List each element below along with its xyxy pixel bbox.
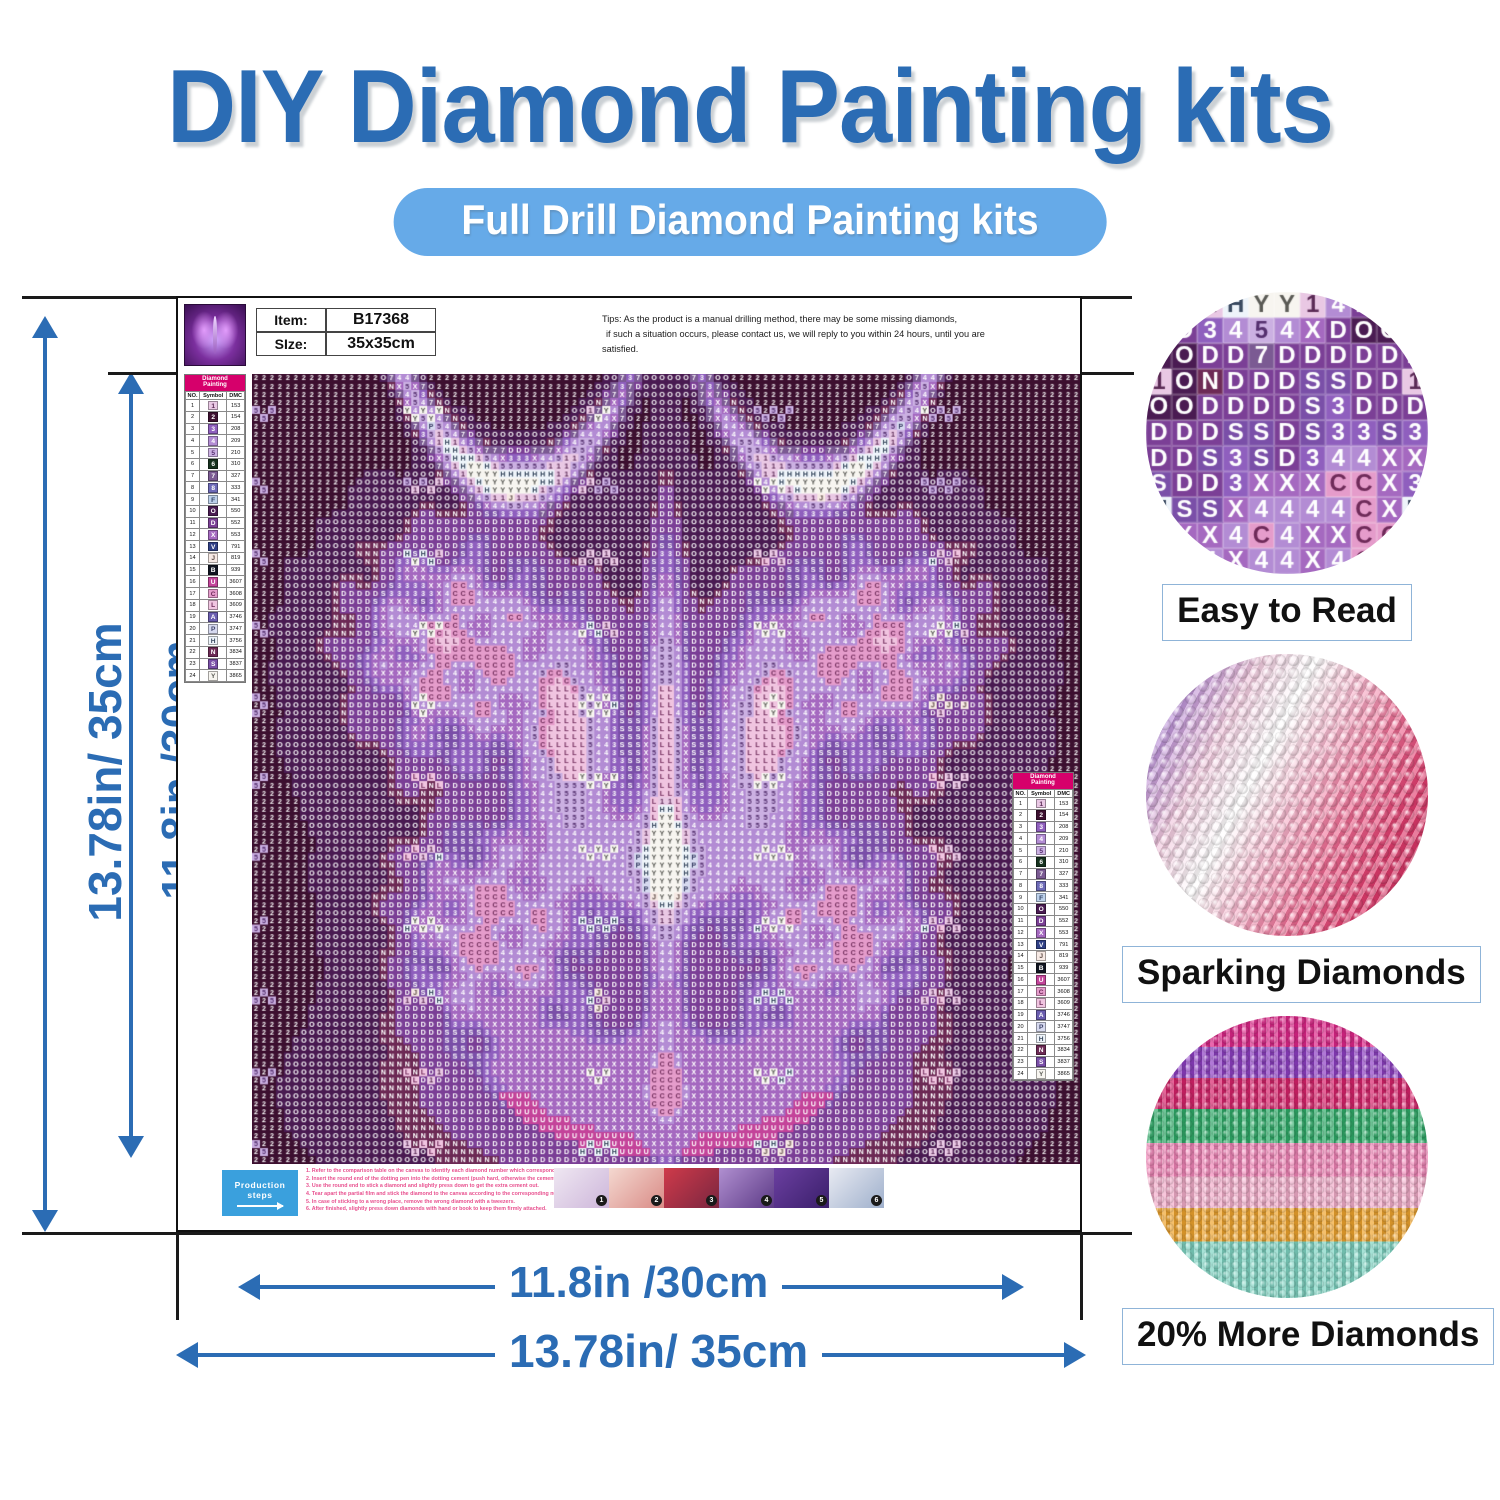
legend-dmc: 791 <box>227 541 245 553</box>
legend-symbol-cell: Y <box>200 670 227 682</box>
legend-symbol-cell: X <box>1028 927 1055 939</box>
subtitle-pill: Full Drill Diamond Painting kits <box>394 188 1107 256</box>
legend-dmc: 154 <box>227 411 245 423</box>
canvas-sheet: Item: B17368 SIze: 35x35cm Tips: As the … <box>176 296 1082 1232</box>
legend-symbol-cell: 1 <box>200 400 227 412</box>
legend-row: 88333 <box>1014 880 1073 892</box>
legend-symbol: X <box>208 530 218 540</box>
legend-symbol-cell: 2 <box>1028 809 1055 821</box>
legend-dmc: 208 <box>1055 821 1073 833</box>
legend-no: 2 <box>1014 809 1028 821</box>
legend-no: 12 <box>1014 927 1028 939</box>
legend-row: 18L3609 <box>186 599 245 611</box>
legend-row: 22N3834 <box>1014 1044 1073 1056</box>
legend-dmc: 939 <box>1055 962 1073 974</box>
legend-symbol: Y <box>1036 1069 1046 1079</box>
legend-dmc: 552 <box>1055 915 1073 927</box>
inner-width-label: 11.8in /30cm <box>495 1258 782 1308</box>
legend-no: 19 <box>186 611 200 623</box>
legend-symbol-cell: U <box>200 576 227 588</box>
legend-no: 21 <box>186 635 200 647</box>
legend-symbol-cell: F <box>1028 892 1055 904</box>
legend-symbol: J <box>208 553 218 563</box>
legend-row: 33208 <box>186 423 245 435</box>
legend-no: 6 <box>186 458 200 470</box>
legend-row: 24Y3865 <box>186 670 245 682</box>
legend-no: 24 <box>186 670 200 682</box>
legend-dmc: 3609 <box>227 599 245 611</box>
legend-row: 44209 <box>1014 833 1073 845</box>
legend-dmc: 341 <box>227 494 245 506</box>
legend-symbol: H <box>208 636 218 646</box>
glossy-diamond-rows-circle <box>1146 654 1428 936</box>
legend-row: 11D552 <box>1014 915 1073 927</box>
legend-symbol: 4 <box>208 436 218 446</box>
legend-dmc: 553 <box>1055 927 1073 939</box>
legend-symbol: J <box>1036 951 1046 961</box>
legend-row: 66310 <box>1014 856 1073 868</box>
legend-dmc: 209 <box>1055 833 1073 845</box>
production-steps-badge: Production steps <box>222 1170 298 1216</box>
legend-dmc: 3837 <box>1055 1056 1073 1068</box>
legend-col-no: NO. <box>1014 789 1028 797</box>
legend-symbol-cell: C <box>1028 986 1055 998</box>
legend-row: 22154 <box>186 411 245 423</box>
legend-symbol-cell: J <box>1028 950 1055 962</box>
legend-no: 22 <box>1014 1044 1028 1056</box>
legend-dmc: 3747 <box>1055 1021 1073 1033</box>
legend-col-dmc: DMC <box>227 391 245 399</box>
legend-dmc: 939 <box>227 564 245 576</box>
legend-dmc: 209 <box>227 435 245 447</box>
legend-symbol-cell: 4 <box>200 435 227 447</box>
legend-header-row: NO.SymbolDMC <box>186 391 245 399</box>
legend-row: 21H3756 <box>186 635 245 647</box>
legend-dmc: 310 <box>227 458 245 470</box>
legend-symbol: V <box>1036 940 1046 950</box>
legend-dmc: 3834 <box>1055 1044 1073 1056</box>
legend-row: 20P3747 <box>1014 1021 1073 1033</box>
legend-no: 13 <box>1014 939 1028 951</box>
legend-no: 9 <box>186 494 200 506</box>
legend-row: 11D552 <box>186 517 245 529</box>
legend-symbol: 7 <box>1036 869 1046 879</box>
legend-dmc: 3608 <box>227 588 245 600</box>
legend-no: 8 <box>1014 880 1028 892</box>
legend-symbol: U <box>1036 975 1046 985</box>
legend-row: 77327 <box>186 470 245 482</box>
legend-symbol-cell: V <box>1028 939 1055 951</box>
outer-height-line <box>43 338 47 1210</box>
legend-symbol-cell: B <box>200 564 227 576</box>
legend-row: 66310 <box>186 458 245 470</box>
production-strip: Production steps 1. Refer to the compari… <box>178 1164 1080 1230</box>
legend-no: 13 <box>186 541 200 553</box>
legend-rows-right: NO.SymbolDMC1115322154332084420955210663… <box>1013 789 1073 1080</box>
legend-row: 16U3607 <box>186 576 245 588</box>
legend-rows: NO.SymbolDMC1115322154332084420955210663… <box>185 391 245 682</box>
step-photo: 1 <box>554 1168 609 1208</box>
legend-symbol-cell: 3 <box>200 423 227 435</box>
step-photo-badge: 4 <box>761 1195 772 1206</box>
legend-row: 19A3746 <box>186 611 245 623</box>
feature-sparking-diamonds: Sparking Diamonds <box>1122 654 1452 1003</box>
tick-left-vert <box>176 1232 179 1320</box>
legend-dmc: 550 <box>1055 903 1073 915</box>
legend-row: 15B939 <box>186 564 245 576</box>
legend-dmc: 3609 <box>1055 997 1073 1009</box>
symbol-grid-artwork <box>252 374 1080 1164</box>
legend-no: 20 <box>1014 1021 1028 1033</box>
legend-symbol: 1 <box>1036 799 1046 809</box>
legend-row: 33208 <box>1014 821 1073 833</box>
legend-dmc: 154 <box>1055 809 1073 821</box>
legend-symbol: L <box>208 600 218 610</box>
size-label: SIze: <box>256 332 326 356</box>
legend-no: 17 <box>186 588 200 600</box>
legend-symbol-cell: S <box>200 658 227 670</box>
legend-no: 17 <box>1014 986 1028 998</box>
legend-row: 9F341 <box>1014 892 1073 904</box>
legend-row: 18L3609 <box>1014 997 1073 1009</box>
legend-symbol-cell: 3 <box>1028 821 1055 833</box>
legend-no: 23 <box>1014 1056 1028 1068</box>
legend-no: 12 <box>186 529 200 541</box>
legend-no: 16 <box>1014 974 1028 986</box>
legend-row: 14J819 <box>186 552 245 564</box>
legend-row: 15B939 <box>1014 962 1073 974</box>
legend-col-symbol: Symbol <box>1028 789 1055 797</box>
legend-no: 1 <box>186 400 200 412</box>
legend-row: 20P3747 <box>186 623 245 635</box>
legend-no: 20 <box>186 623 200 635</box>
subtitle-text: Full Drill Diamond Painting kits <box>461 197 1038 243</box>
legend-row: 23S3837 <box>1014 1056 1073 1068</box>
legend-row: 10O550 <box>1014 903 1073 915</box>
step-photo-badge: 3 <box>706 1195 717 1206</box>
legend-dmc: 153 <box>1055 798 1073 810</box>
legend-title-right-line2: Painting <box>1013 780 1073 786</box>
legend-no: 5 <box>186 447 200 459</box>
outer-height-arrow-bottom <box>32 1210 58 1232</box>
legend-symbol: Y <box>208 671 218 681</box>
legend-symbol-cell: Y <box>1028 1068 1055 1080</box>
legend-dmc: 3607 <box>1055 974 1073 986</box>
step-photo-badge: 2 <box>651 1195 662 1206</box>
legend-no: 4 <box>1014 833 1028 845</box>
legend-dmc: 310 <box>1055 856 1073 868</box>
legend-header-row: NO.SymbolDMC <box>1014 789 1073 797</box>
legend-symbol: 8 <box>1036 881 1046 891</box>
legend-dmc: 3865 <box>227 670 245 682</box>
outer-width-label: 13.78in/ 35cm <box>495 1324 822 1378</box>
legend-dmc: 3837 <box>227 658 245 670</box>
legend-row: 11153 <box>1014 798 1073 810</box>
legend-symbol-cell: 7 <box>200 470 227 482</box>
feature-easy-to-read: Easy to Read <box>1122 292 1452 641</box>
legend-row: 12X553 <box>186 529 245 541</box>
legend-symbol: 3 <box>1036 822 1046 832</box>
legend-symbol: H <box>1036 1034 1046 1044</box>
arrow-icon <box>237 1205 283 1207</box>
legend-symbol: S <box>1036 1057 1046 1067</box>
production-label-line2: steps <box>247 1190 272 1200</box>
legend-symbol-cell: 6 <box>1028 856 1055 868</box>
legend-symbol: U <box>208 577 218 587</box>
legend-no: 1 <box>1014 798 1028 810</box>
sheet-header: Item: B17368 SIze: 35x35cm Tips: As the … <box>178 298 1080 370</box>
inner-width-arrow-right <box>1002 1274 1024 1300</box>
legend-symbol-cell: N <box>200 646 227 658</box>
legend-table-right: Diamond Painting NO.SymbolDMC11153221543… <box>1012 772 1074 1081</box>
legend-row: 77327 <box>1014 868 1073 880</box>
legend-row: 9F341 <box>186 494 245 506</box>
step-photo: 4 <box>719 1168 774 1208</box>
legend-symbol: S <box>208 659 218 669</box>
step-photo-badge: 1 <box>596 1195 607 1206</box>
legend-symbol-cell: D <box>200 517 227 529</box>
inner-height-line <box>129 394 133 1136</box>
legend-symbol: C <box>1036 987 1046 997</box>
legend-symbol: B <box>208 565 218 575</box>
legend-symbol-cell: C <box>200 588 227 600</box>
legend-symbol-cell: 4 <box>1028 833 1055 845</box>
legend-col-dmc: DMC <box>1055 789 1073 797</box>
legend-title-right: Diamond Painting <box>1013 773 1073 789</box>
legend-symbol-cell: 8 <box>200 482 227 494</box>
legend-no: 6 <box>1014 856 1028 868</box>
step-photo: 5 <box>774 1168 829 1208</box>
legend-no: 10 <box>186 505 200 517</box>
legend-dmc: 210 <box>227 447 245 459</box>
legend-title-line2: Painting <box>185 382 245 388</box>
legend-col-symbol: Symbol <box>200 391 227 399</box>
legend-symbol: O <box>208 506 218 516</box>
legend-row: 10O550 <box>186 505 245 517</box>
legend-dmc: 819 <box>1055 950 1073 962</box>
step-photo-strip: 123456 <box>554 1168 884 1208</box>
legend-no: 15 <box>1014 962 1028 974</box>
legend-col-no: NO. <box>186 391 200 399</box>
legend-symbol-cell: X <box>200 529 227 541</box>
legend-symbol-cell: F <box>200 494 227 506</box>
legend-symbol: N <box>208 647 218 657</box>
legend-symbol-cell: 1 <box>1028 798 1055 810</box>
tips-line-2: if such a situation occurs, please conta… <box>602 327 1007 342</box>
inner-height-arrow-top <box>118 372 144 394</box>
legend-symbol-cell: 8 <box>1028 880 1055 892</box>
legend-symbol-cell: 2 <box>200 411 227 423</box>
legend-dmc: 3756 <box>1055 1033 1073 1045</box>
legend-no: 19 <box>1014 1009 1028 1021</box>
legend-symbol: C <box>208 589 218 599</box>
legend-symbol-cell: O <box>200 505 227 517</box>
legend-symbol-cell: S <box>1028 1056 1055 1068</box>
feature-more-diamonds: 20% More Diamonds <box>1122 1016 1452 1365</box>
legend-no: 5 <box>1014 845 1028 857</box>
legend-dmc: 210 <box>1055 845 1073 857</box>
legend-dmc: 3608 <box>1055 986 1073 998</box>
page-title: DIY Diamond Painting kits <box>60 55 1440 159</box>
outer-height-label: 13.78in/ 35cm <box>78 612 132 932</box>
legend-dmc: 333 <box>227 482 245 494</box>
legend-dmc: 327 <box>227 470 245 482</box>
legend-symbol-cell: 7 <box>1028 868 1055 880</box>
legend-symbol: A <box>208 612 218 622</box>
legend-no: 7 <box>186 470 200 482</box>
legend-row: 24Y3865 <box>1014 1068 1073 1080</box>
legend-symbol-cell: P <box>1028 1021 1055 1033</box>
legend-no: 8 <box>186 482 200 494</box>
legend-symbol: 8 <box>208 483 218 493</box>
legend-symbol-cell: A <box>200 611 227 623</box>
purple-butterfly-thumbnail <box>184 304 246 366</box>
legend-symbol: 6 <box>208 459 218 469</box>
legend-row: 23S3837 <box>186 658 245 670</box>
legend-table-left: Diamond Painting NO.SymbolDMC11153221543… <box>184 374 246 683</box>
legend-symbol-cell: V <box>200 541 227 553</box>
legend-no: 11 <box>1014 915 1028 927</box>
legend-symbol-cell: A <box>1028 1009 1055 1021</box>
legend-dmc: 3746 <box>1055 1009 1073 1021</box>
legend-symbol: L <box>1036 998 1046 1008</box>
feature-label-2: Sparking Diamonds <box>1122 946 1481 1003</box>
step-photo-badge: 6 <box>871 1195 882 1206</box>
production-label-line1: Production <box>235 1180 286 1190</box>
legend-symbol-cell: H <box>200 635 227 647</box>
legend-symbol: 6 <box>1036 857 1046 867</box>
legend-symbol: 1 <box>208 401 218 411</box>
legend-symbol: F <box>1036 893 1046 903</box>
legend-symbol: D <box>208 518 218 528</box>
legend-dmc: 791 <box>1055 939 1073 951</box>
legend-dmc: 553 <box>227 529 245 541</box>
legend-no: 24 <box>1014 1068 1028 1080</box>
tick-right-vert <box>1080 1232 1083 1320</box>
legend-no: 2 <box>186 411 200 423</box>
step-photo-badge: 5 <box>816 1195 827 1206</box>
feature-label-1: Easy to Read <box>1162 584 1412 641</box>
legend-row: 22N3834 <box>186 646 245 658</box>
legend-row: 13V791 <box>1014 939 1073 951</box>
legend-no: 7 <box>1014 868 1028 880</box>
legend-no: 3 <box>1014 821 1028 833</box>
legend-symbol: N <box>1036 1045 1046 1055</box>
legend-symbol-cell: H <box>1028 1033 1055 1045</box>
legend-no: 23 <box>186 658 200 670</box>
legend-symbol-cell: B <box>1028 962 1055 974</box>
legend-no: 4 <box>186 435 200 447</box>
legend-row: 16U3607 <box>1014 974 1073 986</box>
outer-width-arrow-left <box>176 1342 198 1368</box>
legend-symbol-cell: 6 <box>200 458 227 470</box>
legend-symbol-cell: J <box>200 552 227 564</box>
legend-dmc: 552 <box>227 517 245 529</box>
legend-row: 55210 <box>186 447 245 459</box>
legend-row: 17C3608 <box>1014 986 1073 998</box>
legend-symbol: 2 <box>1036 810 1046 820</box>
step-photo: 3 <box>664 1168 719 1208</box>
legend-symbol-cell: N <box>1028 1044 1055 1056</box>
legend-row: 11153 <box>186 400 245 412</box>
outer-width-arrow-right <box>1064 1342 1086 1368</box>
legend-symbol: 5 <box>1036 846 1046 856</box>
legend-dmc: 327 <box>1055 868 1073 880</box>
step-photo: 2 <box>609 1168 664 1208</box>
feature-label-3: 20% More Diamonds <box>1122 1308 1494 1365</box>
legend-no: 14 <box>1014 950 1028 962</box>
legend-no: 3 <box>186 423 200 435</box>
legend-no: 15 <box>186 564 200 576</box>
legend-dmc: 3756 <box>227 635 245 647</box>
legend-symbol: F <box>208 495 218 505</box>
legend-no: 14 <box>186 552 200 564</box>
inner-height-arrow-bottom <box>118 1136 144 1158</box>
legend-symbol-cell: L <box>200 599 227 611</box>
legend-symbol: 3 <box>208 424 218 434</box>
legend-symbol: X <box>1036 928 1046 938</box>
legend-row: 12X553 <box>1014 927 1073 939</box>
legend-title: Diamond Painting <box>185 375 245 391</box>
size-value: 35x35cm <box>326 332 436 356</box>
legend-symbol: 2 <box>208 412 218 422</box>
inner-width-arrow-left <box>238 1274 260 1300</box>
legend-symbol: B <box>1036 963 1046 973</box>
legend-row: 13V791 <box>186 541 245 553</box>
legend-dmc: 3834 <box>227 646 245 658</box>
legend-row: 88333 <box>186 482 245 494</box>
colored-diamond-piles-circle <box>1146 1016 1428 1298</box>
legend-no: 9 <box>1014 892 1028 904</box>
legend-symbol: O <box>1036 904 1046 914</box>
legend-symbol-cell: U <box>1028 974 1055 986</box>
legend-symbol: D <box>1036 916 1046 926</box>
legend-dmc: 153 <box>227 400 245 412</box>
item-label: Item: <box>256 308 326 332</box>
legend-symbol-cell: D <box>1028 915 1055 927</box>
legend-no: 10 <box>1014 903 1028 915</box>
legend-dmc: 333 <box>1055 880 1073 892</box>
legend-row: 21H3756 <box>1014 1033 1073 1045</box>
tips-line-1: Tips: As the product is a manual drillin… <box>602 312 1007 327</box>
zoomed-symbol-grid-circle <box>1146 292 1428 574</box>
tips-text: Tips: As the product is a manual drillin… <box>602 312 1007 357</box>
legend-symbol: A <box>1036 1010 1046 1020</box>
legend-no: 18 <box>1014 997 1028 1009</box>
legend-row: 19A3746 <box>1014 1009 1073 1021</box>
legend-dmc: 341 <box>1055 892 1073 904</box>
legend-symbol: 7 <box>208 471 218 481</box>
legend-symbol: P <box>1036 1022 1046 1032</box>
legend-dmc: 3865 <box>1055 1068 1073 1080</box>
tick-bottom <box>22 1232 1132 1235</box>
legend-symbol-cell: 5 <box>200 447 227 459</box>
legend-symbol-cell: P <box>200 623 227 635</box>
legend-row: 44209 <box>186 435 245 447</box>
legend-row: 17C3608 <box>186 588 245 600</box>
legend-symbol-cell: 5 <box>1028 845 1055 857</box>
legend-no: 18 <box>186 599 200 611</box>
legend-row: 55210 <box>1014 845 1073 857</box>
step-photo: 6 <box>829 1168 884 1208</box>
legend-dmc: 3747 <box>227 623 245 635</box>
legend-dmc: 208 <box>227 423 245 435</box>
legend-symbol-cell: O <box>1028 903 1055 915</box>
outer-height-arrow-top <box>32 316 58 338</box>
legend-no: 11 <box>186 517 200 529</box>
legend-row: 22154 <box>1014 809 1073 821</box>
legend-symbol-cell: L <box>1028 997 1055 1009</box>
